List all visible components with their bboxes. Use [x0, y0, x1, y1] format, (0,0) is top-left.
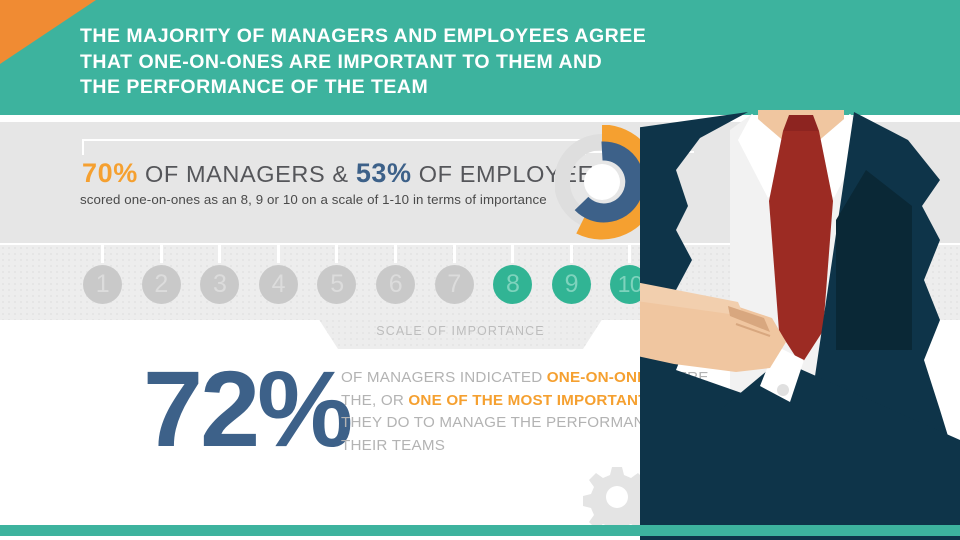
scale-tick-3 [218, 245, 221, 263]
donut-center-hole [584, 164, 620, 200]
scale-tick-9 [570, 245, 573, 263]
scale-label: SCALE OF IMPORTANCE [318, 324, 603, 338]
scale-tick-8 [511, 245, 514, 263]
ampersand: & [332, 161, 348, 187]
page-title: THE MAJORITY OF MANAGERS AND EMPLOYEES A… [80, 24, 670, 101]
scale-circle-5[interactable]: 5 [317, 265, 356, 304]
stats-headline: 70% OF MANAGERS & 53% OF EMPLOYEES [82, 160, 572, 187]
businessman-illustration [640, 110, 960, 540]
scale-tick-1 [101, 245, 104, 263]
tie-knot [783, 115, 819, 131]
scale-tick-2 [160, 245, 163, 263]
scale-tick-10 [628, 245, 631, 263]
page-title-line-2: THAT ONE-ON-ONES ARE IMPORTANT TO THEM A… [80, 50, 670, 76]
scale-circle-6[interactable]: 6 [376, 265, 415, 304]
desc-line4: THEIR TEAMS [341, 437, 445, 454]
scale-circle-9[interactable]: 9 [552, 265, 591, 304]
scale-circle-3[interactable]: 3 [200, 265, 239, 304]
scale-label-tab: SCALE OF IMPORTANCE [318, 318, 603, 349]
infographic-canvas: THE MAJORITY OF MANAGERS AND EMPLOYEES A… [0, 0, 960, 540]
scale-tick-4 [277, 245, 280, 263]
scale-tick-6 [394, 245, 397, 263]
desc-line1-pre: OF MANAGERS INDICATED [341, 369, 547, 386]
footer-bar [0, 525, 960, 536]
scale-circle-1[interactable]: 1 [83, 265, 122, 304]
scale-tick-5 [335, 245, 338, 263]
scale-circle-2[interactable]: 2 [142, 265, 181, 304]
scale-circle-8[interactable]: 8 [493, 265, 532, 304]
scale-circle-4[interactable]: 4 [259, 265, 298, 304]
managers-label: OF MANAGERS [145, 161, 325, 187]
cuff-button [777, 384, 789, 396]
desc-line2-pre: THE, OR [341, 392, 408, 409]
managers-percent: 70% [82, 158, 138, 188]
scale-tick-7 [453, 245, 456, 263]
managers-72-percent: 72% [143, 355, 350, 463]
header-banner: THE MAJORITY OF MANAGERS AND EMPLOYEES A… [0, 0, 960, 115]
employees-percent: 53% [356, 158, 412, 188]
stats-subtitle: scored one-on-ones as an 8, 9 or 10 on a… [80, 192, 580, 207]
bracket-decoration [82, 139, 586, 155]
scale-circle-7[interactable]: 7 [435, 265, 474, 304]
page-title-line-3: THE PERFORMANCE OF THE TEAM [80, 75, 670, 101]
page-title-line-1: THE MAJORITY OF MANAGERS AND EMPLOYEES A… [80, 24, 670, 50]
